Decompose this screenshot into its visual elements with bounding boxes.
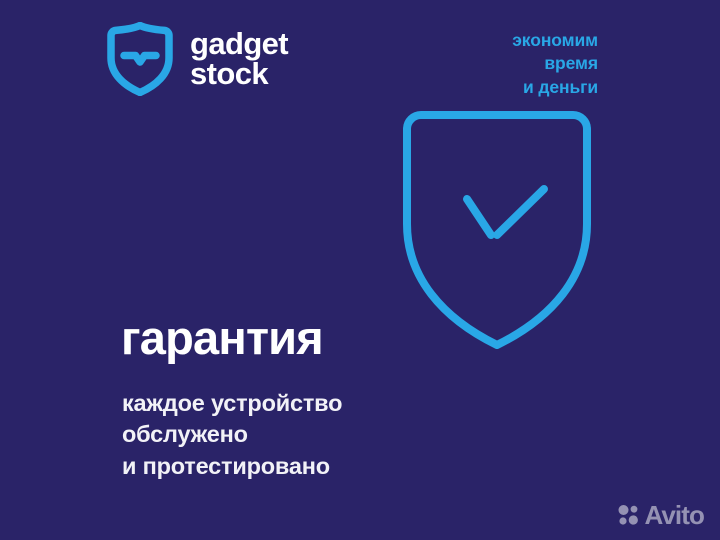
body-copy-line-1: каждое устройство [122, 388, 342, 419]
tagline: экономим время и деньги [512, 29, 598, 99]
page-title: гарантия [121, 314, 323, 361]
promo-banner: gadget stock экономим время и деньги гар… [0, 0, 720, 540]
tagline-line-1: экономим [512, 29, 598, 52]
shield-g-logo-icon [104, 22, 176, 96]
brand-name-line-2: stock [190, 59, 288, 89]
avito-dots-icon [617, 504, 639, 526]
avito-watermark: Avito [617, 502, 704, 528]
brand-lockup: gadget stock [104, 22, 288, 96]
body-copy: каждое устройство обслужено и протестиро… [122, 388, 342, 482]
tagline-line-3: и деньги [512, 76, 598, 99]
brand-name-line-1: gadget [190, 29, 288, 59]
body-copy-line-3: и протестировано [122, 451, 342, 482]
shield-check-icon [392, 102, 602, 356]
body-copy-line-2: обслужено [122, 419, 342, 450]
brand-wordmark: gadget stock [190, 29, 288, 90]
avito-label: Avito [644, 502, 704, 528]
tagline-line-2: время [512, 52, 598, 75]
